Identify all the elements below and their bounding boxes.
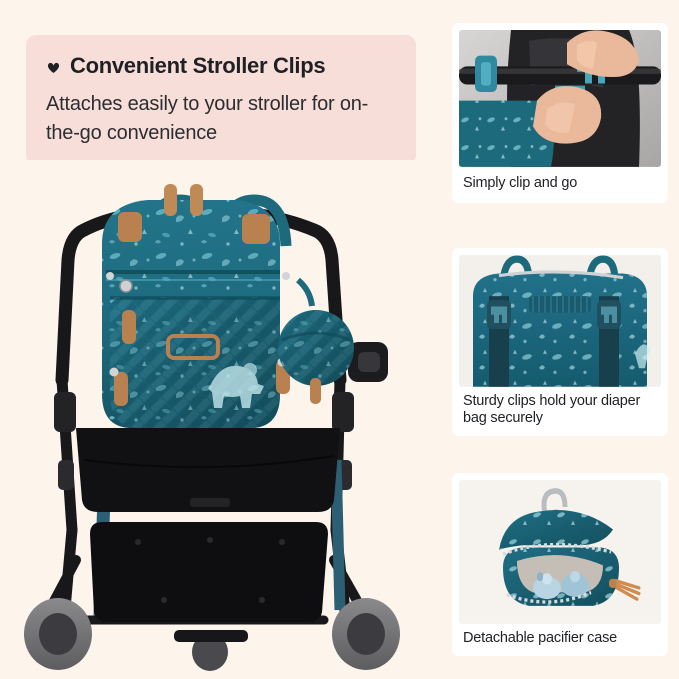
heart-icon <box>46 59 61 75</box>
headline-callout: Convenient Stroller Clips Attaches easil… <box>26 35 416 165</box>
feature-card-clip-and-go: Simply clip and go <box>452 23 668 203</box>
headline-subtitle: Attaches easily to your stroller for on-… <box>46 90 394 147</box>
hero-photo <box>14 160 444 672</box>
card-caption: Detachable pacifier case <box>452 624 668 656</box>
pacifier-case-photo <box>459 480 661 624</box>
stroller-with-diaper-bag-illustration <box>14 160 444 672</box>
bag-back-illustration <box>459 255 661 387</box>
product-infographic: Convenient Stroller Clips Attaches easil… <box>0 0 679 679</box>
card-caption: Simply clip and go <box>452 167 668 203</box>
stroller-basket <box>90 522 328 622</box>
feature-card-pacifier-case: Detachable pacifier case <box>452 473 668 656</box>
bag-back-clips-photo <box>459 255 661 387</box>
card-caption: Sturdy clips hold your diaper bag secure… <box>452 387 668 436</box>
headline-row: Convenient Stroller Clips <box>46 53 394 79</box>
pacifier-case-illustration <box>459 480 661 624</box>
headline-title: Convenient Stroller Clips <box>70 53 325 79</box>
hands-clipping-illustration <box>459 30 661 167</box>
feature-card-sturdy-clips: Sturdy clips hold your diaper bag secure… <box>452 248 668 436</box>
hands-clipping-bag-photo <box>459 30 661 167</box>
